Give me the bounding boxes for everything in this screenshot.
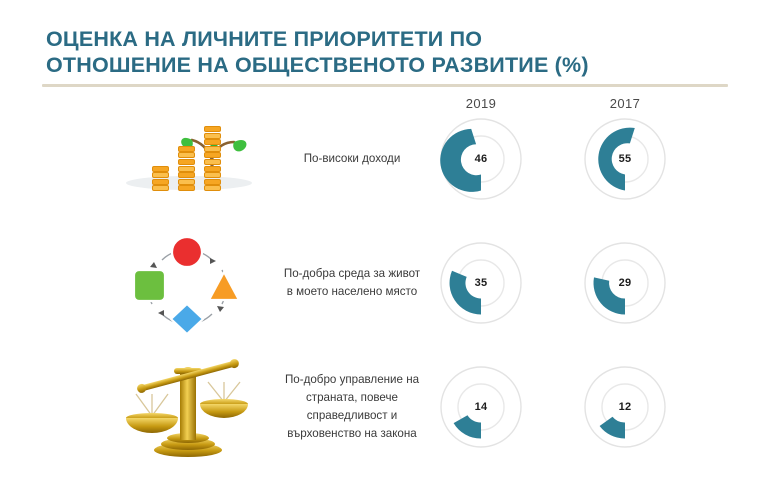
coin-stack-small [152, 166, 169, 192]
donut-chart-2017: 12 [565, 354, 685, 460]
coin-stack-large [204, 126, 221, 192]
row-label-line: По-добро управление на [285, 371, 419, 389]
page-title-line-1: ОЦЕНКА НА ЛИЧНИТЕ ПРИОРИТЕТИ ПО [46, 26, 726, 52]
donut-chart-2019: 14 [421, 354, 541, 460]
donut-chart-2017: 29 [565, 230, 685, 336]
table-row: По-добро управление на страната, повече … [0, 352, 768, 464]
donut-value: 35 [435, 237, 527, 329]
row-label-line: страната, повече [306, 389, 398, 407]
row-label: По-добра среда за живот в моето населено… [256, 228, 448, 338]
page-title: ОЦЕНКА НА ЛИЧНИТЕ ПРИОРИТЕТИ ПО ОТНОШЕНИ… [46, 26, 726, 78]
coin-stack-medium [178, 146, 195, 192]
row-label-line: в моето населено място [287, 283, 417, 301]
title-divider [42, 84, 728, 87]
donut-value: 46 [435, 113, 527, 205]
coins-plant-growth-icon [112, 104, 262, 214]
cycle-diagram [126, 234, 248, 336]
scales-of-justice-icon [112, 352, 262, 462]
row-label-line: По-високи доходи [304, 150, 401, 168]
donut-chart-2019: 46 [421, 106, 541, 212]
donut-value: 14 [435, 361, 527, 453]
row-label-line: По-добра среда за живот [284, 265, 420, 283]
donut-value: 12 [579, 361, 671, 453]
row-label-line: справедливост и [307, 407, 397, 425]
donut-chart-2017: 55 [565, 106, 685, 212]
row-label: По-високи доходи [256, 104, 448, 214]
row-label: По-добро управление на страната, повече … [256, 352, 448, 462]
table-row: По-добра среда за живот в моето населено… [0, 228, 768, 338]
donut-value: 55 [579, 113, 671, 205]
row-label-line: върховенство на закона [287, 425, 416, 443]
table-row: По-високи доходи 46 55 [0, 104, 768, 214]
donut-chart-2019: 35 [421, 230, 541, 336]
balance-scales [122, 354, 254, 462]
donut-value: 29 [579, 237, 671, 329]
page-title-line-2: ОТНОШЕНИЕ НА ОБЩЕСТВЕНОТО РАЗВИТИЕ (%) [46, 52, 726, 78]
cycle-shapes-icon [112, 228, 262, 338]
